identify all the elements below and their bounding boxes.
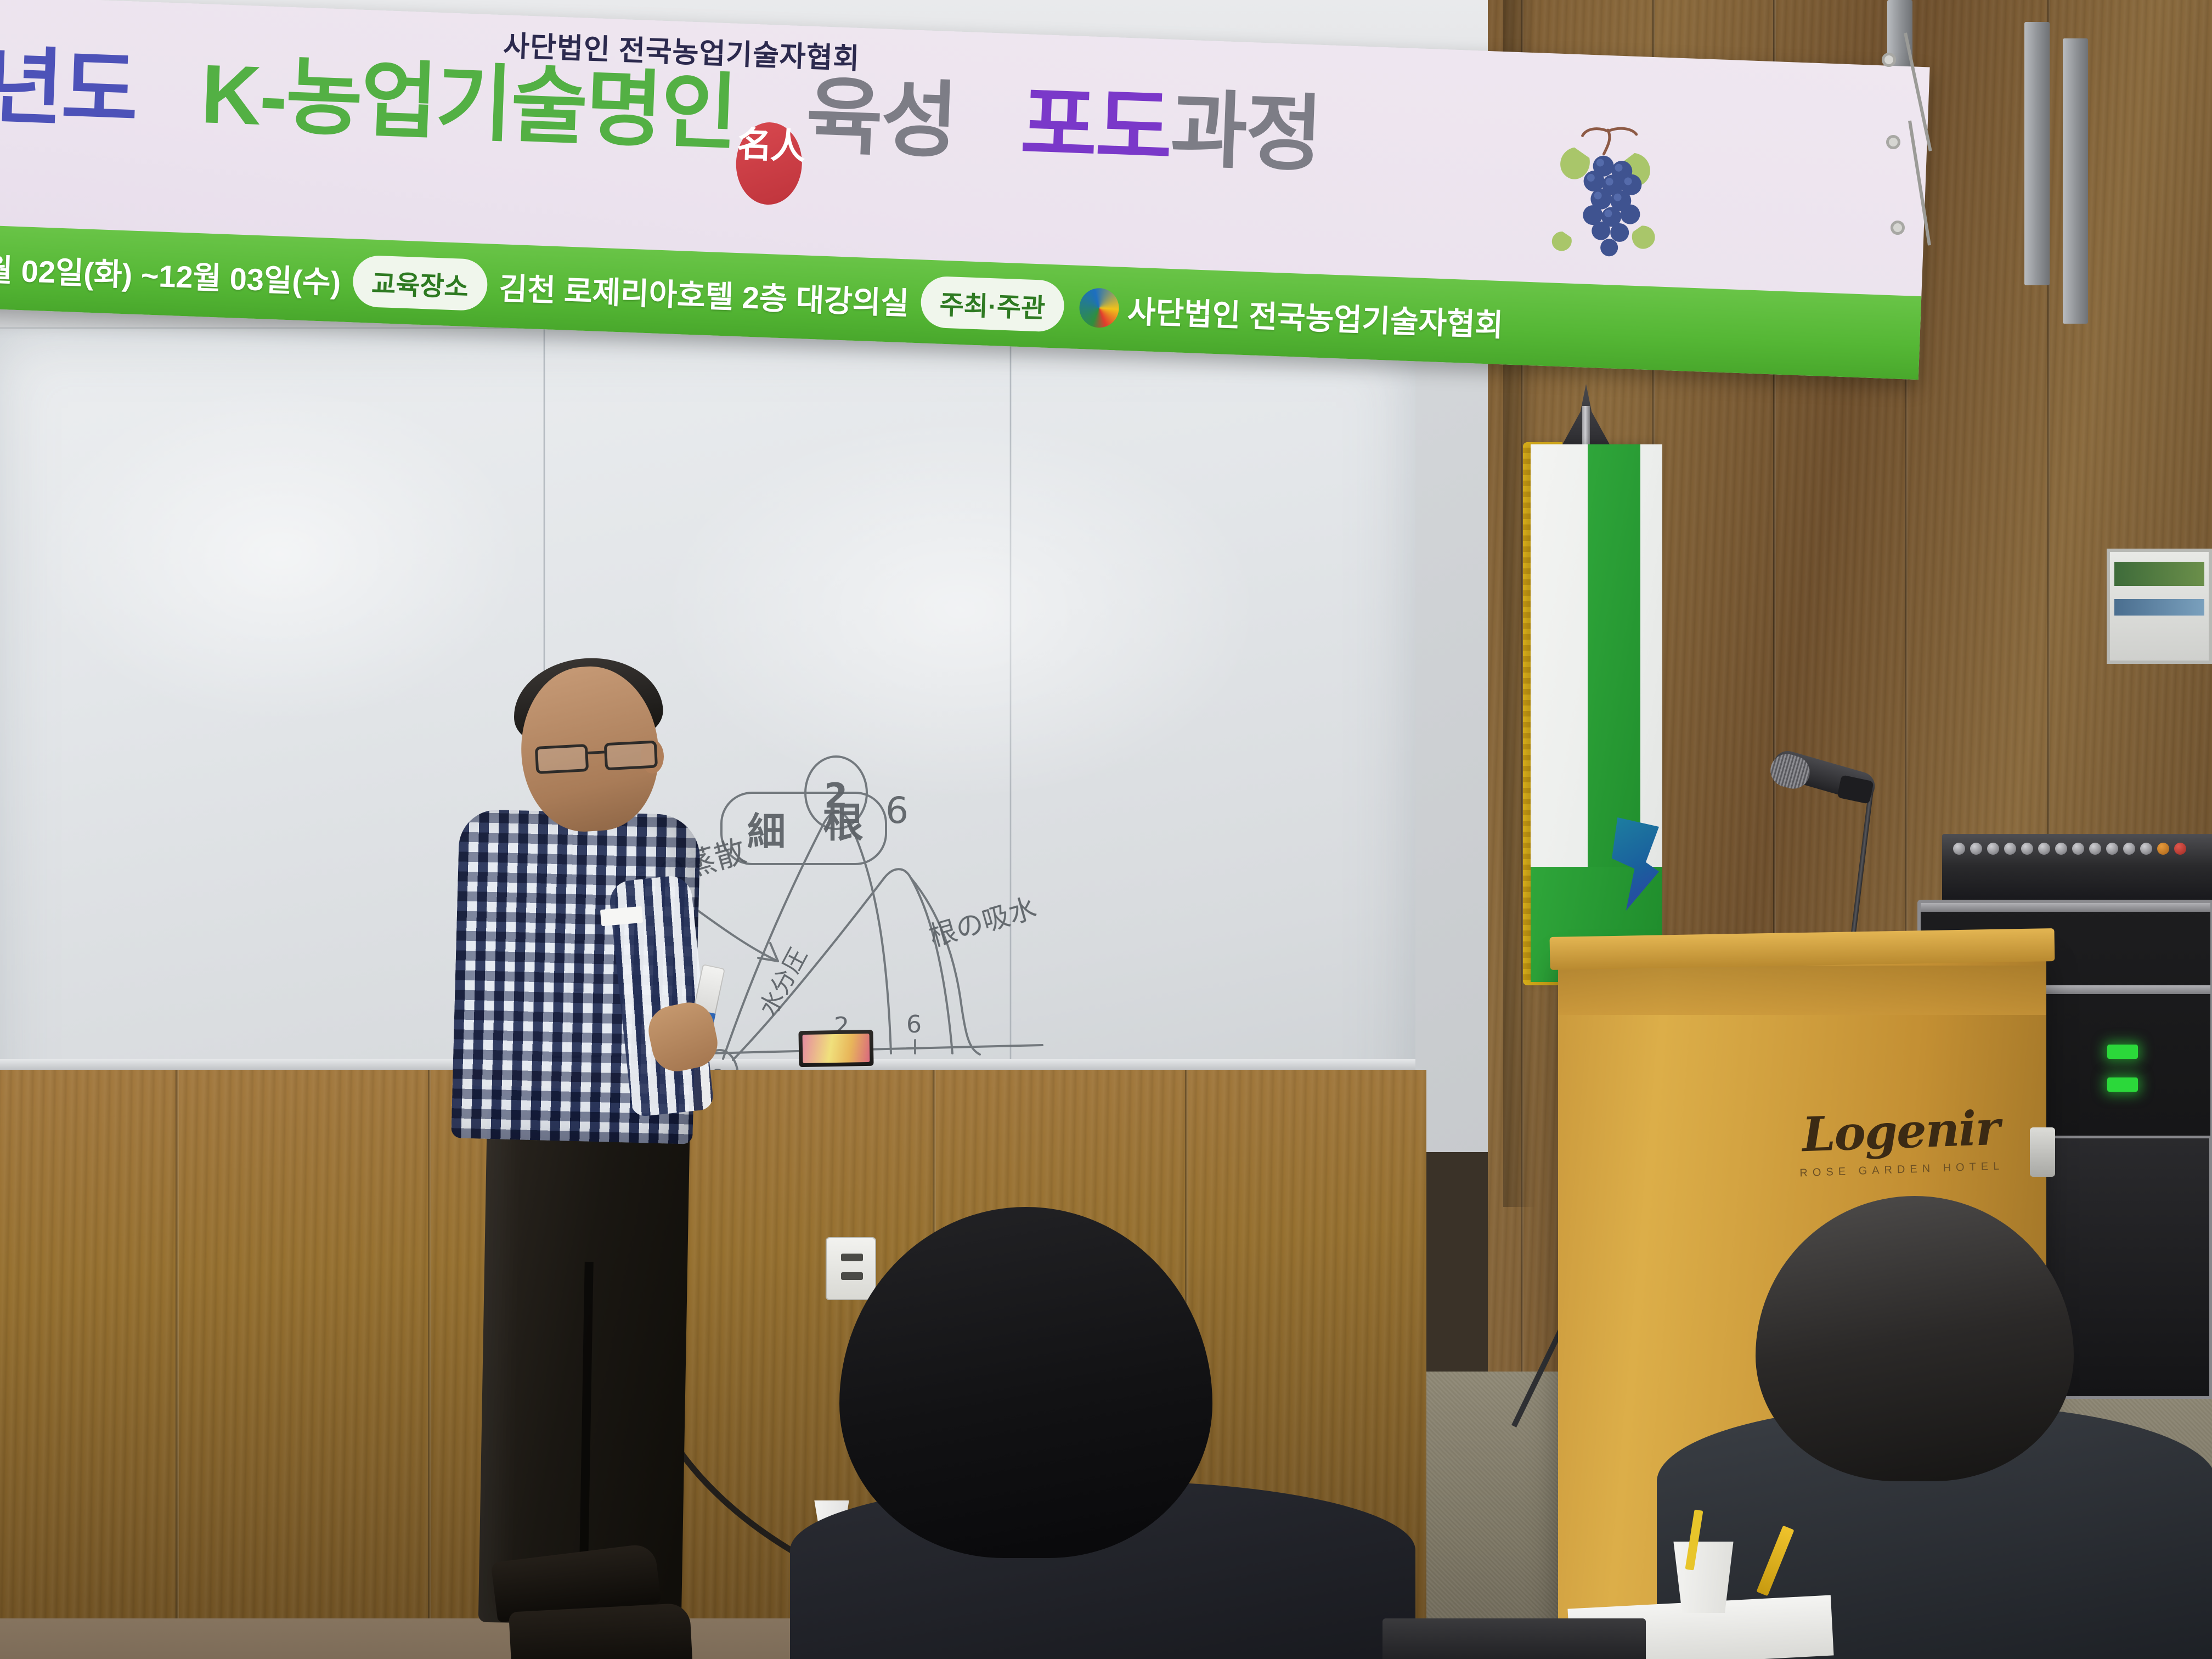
banner-venue-badge: 교육장소 [352,255,488,311]
mixer-knob[interactable] [2089,843,2101,855]
mixer-knob[interactable] [2004,843,2016,855]
podium-logo-text: Logenir [1785,1100,2017,1164]
association-flag [1531,444,1662,982]
mixer-knob-orange[interactable] [2157,843,2169,855]
podium-handle[interactable] [2030,1127,2055,1177]
banner-dates: 월 02일(화) ~12월 03일(수) [0,245,342,302]
mixer-knob[interactable] [2106,843,2118,855]
room-scene: 細 根 2 6 量 葉の蒸散 水分圧 根の吸水 2 6 朝 9 9 2 [0,0,2212,1659]
x-tick-6: 6 [906,1011,922,1039]
podium-logo: Logenir ROSE GARDEN HOTEL [1785,1100,2017,1181]
mixer-knob[interactable] [2021,843,2033,855]
banner-grommet [1886,135,1900,149]
diagram-marker-2: 2 [824,776,848,816]
banner-title-grape: 포도 [1019,77,1172,176]
banner-grommet [1891,221,1905,235]
mixer-knob[interactable] [1970,843,1982,855]
mixer-knob-row[interactable] [1953,838,2211,859]
whiteboard-eraser[interactable] [798,1030,873,1067]
diagram-title-char-1: 細 [747,809,786,854]
mixer-knob[interactable] [2055,843,2067,855]
rack-led-display [2107,1045,2138,1059]
banner-title-year: 5년도 [0,38,138,138]
laptop-device[interactable] [1383,1618,1646,1659]
mixer-knob[interactable] [2140,843,2152,855]
presenter-shoe-right [509,1602,693,1659]
association-logo-icon [1079,287,1120,329]
mixer-knob[interactable] [1987,843,1999,855]
annotation-root-uptake: 根の吸水 [926,892,1040,953]
mixer-knob[interactable] [2038,843,2050,855]
banner-grommet [1882,53,1896,67]
banner-host-badge: 주최·주관 [920,275,1065,332]
banner-title-k-nong: K-농업 [200,47,438,149]
wall-notice-frame [2107,549,2212,664]
wall-power-outlet [826,1237,876,1300]
mixer-knob[interactable] [2072,843,2084,855]
banner-title-skill: 기술명인 [434,56,737,160]
banner-host: 사단법인 전국농업기술자협회 [1127,287,1504,345]
banner-venue: 김천 로제리아호텔 2층 대강의실 [498,264,910,323]
mixer-knob[interactable] [1953,843,1965,855]
mixer-knob[interactable] [2123,843,2135,855]
wall-slat [2063,38,2088,324]
diagram-marker-6: 6 [885,789,909,832]
wall-slat [2024,22,2050,285]
banner-title-yuksung: 육성 [804,70,958,168]
banner-title-course: 과정 [1169,83,1323,182]
banner-title-seal: 名人 [735,121,803,206]
rack-led-display [2107,1077,2138,1092]
mixer-knob-red[interactable] [2174,843,2186,855]
grape-cluster-icon [1538,114,1681,272]
banner-title: 5년도 K-농업기술명인名人육성 포도과정 [0,43,1322,225]
podium-slope [1558,966,2046,1015]
